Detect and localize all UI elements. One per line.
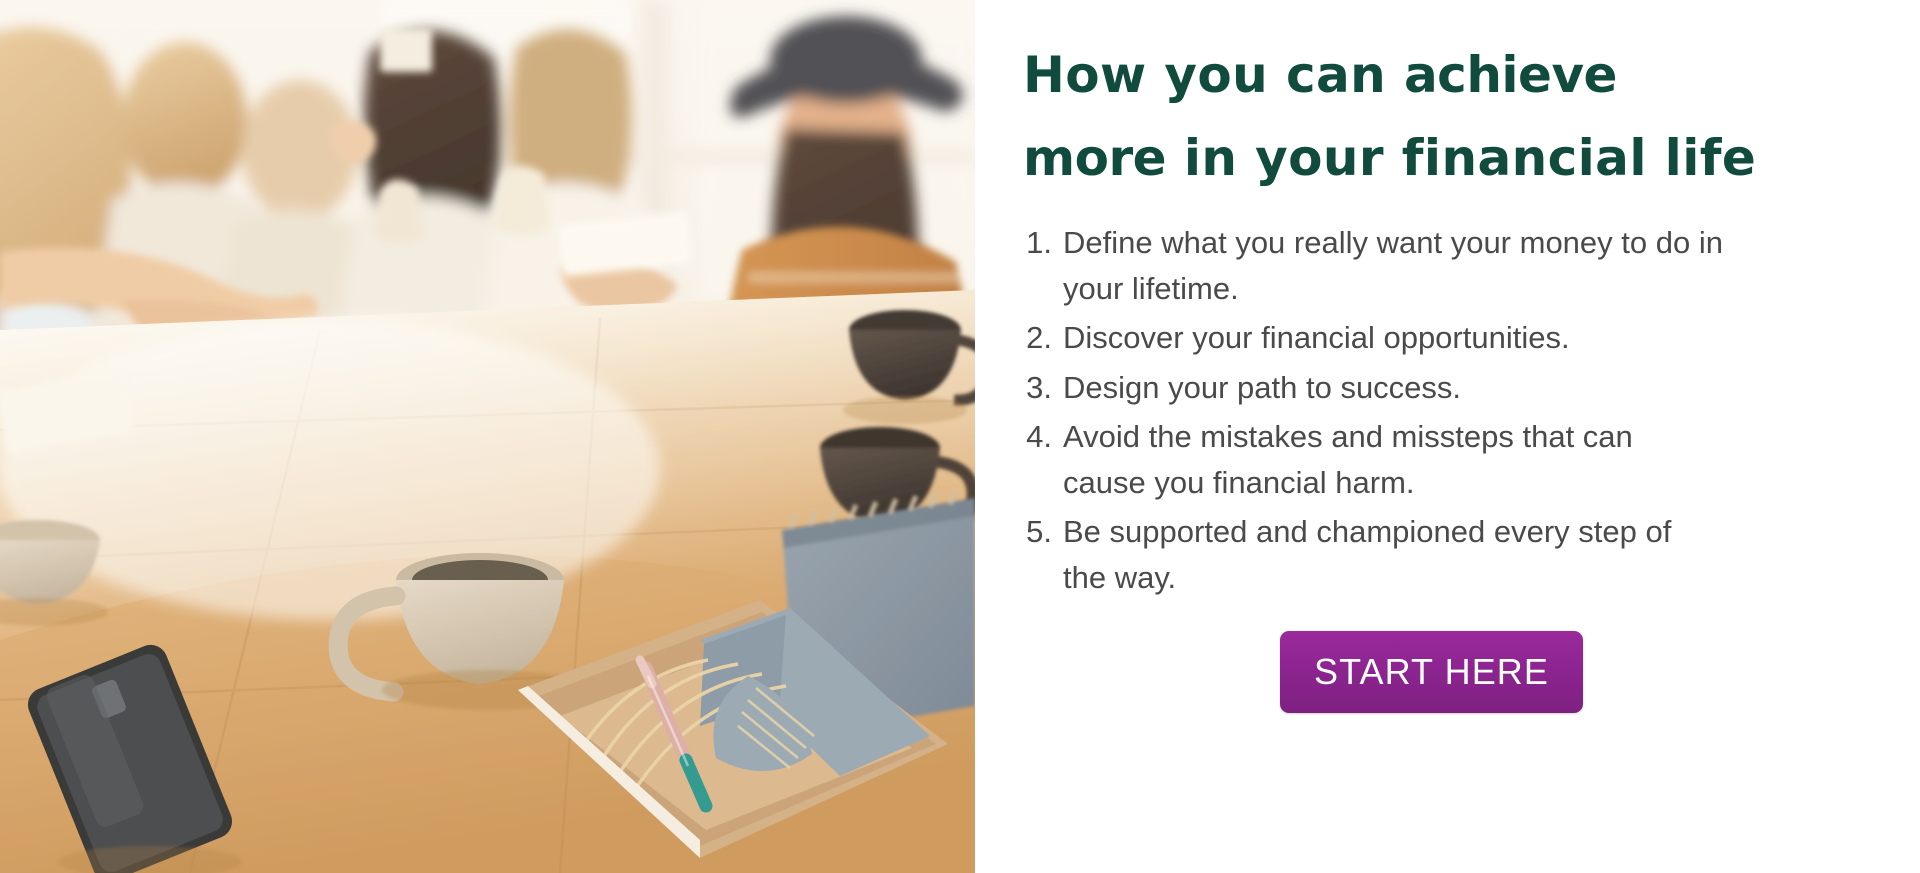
list-item-number: 2.: [1023, 315, 1063, 361]
list-item: 2. Discover your financial opportunities…: [1023, 315, 1868, 361]
hero-photo-image: [0, 0, 975, 873]
benefits-list: 1. Define what you really want your mone…: [1023, 220, 1868, 605]
list-item-number: 4.: [1023, 414, 1063, 460]
list-item-text: Define what you really want your money t…: [1063, 220, 1723, 312]
list-item-text: Be supported and championed every step o…: [1063, 509, 1723, 601]
list-item: 3. Design your path to success.: [1023, 365, 1868, 411]
content-pane: How you can achieve more in your financi…: [975, 0, 1920, 873]
headline-line-1-prefix: How you can: [1023, 46, 1404, 104]
headline-emphasis-more: more: [1023, 129, 1166, 187]
headline-line-2-suffix: in your financial life: [1166, 129, 1756, 187]
list-item: 5. Be supported and championed every ste…: [1023, 509, 1868, 601]
list-item-text: Avoid the mistakes and missteps that can…: [1063, 414, 1723, 506]
page-title: How you can achieve more in your financi…: [1023, 34, 1868, 200]
headline-line-2: more in your financial life: [1023, 117, 1868, 200]
start-here-button[interactable]: START HERE: [1280, 631, 1583, 713]
list-item-text: Design your path to success.: [1063, 365, 1723, 411]
list-item-text: Discover your financial opportunities.: [1063, 315, 1723, 361]
headline-emphasis-achieve: achieve: [1404, 46, 1617, 104]
list-item-number: 5.: [1023, 509, 1063, 555]
hero-photo: [0, 0, 975, 873]
cta-row: START HERE: [1023, 631, 1868, 713]
list-item-number: 3.: [1023, 365, 1063, 411]
list-item: 4. Avoid the mistakes and missteps that …: [1023, 414, 1868, 506]
list-item-number: 1.: [1023, 220, 1063, 266]
promo-banner: How you can achieve more in your financi…: [0, 0, 1920, 873]
headline-line-1: How you can achieve: [1023, 34, 1868, 117]
list-item: 1. Define what you really want your mone…: [1023, 220, 1868, 312]
